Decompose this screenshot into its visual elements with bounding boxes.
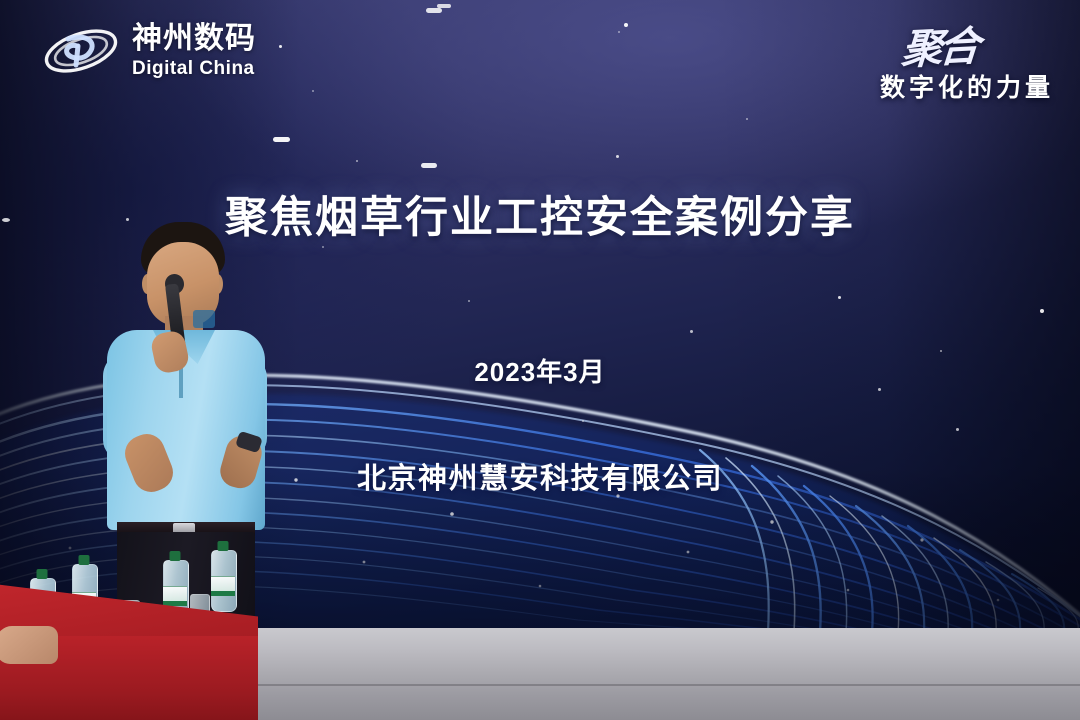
bottle-label-strip — [211, 591, 235, 596]
digital-china-swirl-logo — [42, 20, 120, 82]
brand-name-en: Digital China — [132, 59, 256, 78]
event-brand: 聚合 数字化的力量 — [880, 14, 1054, 104]
bottle-cap — [79, 555, 90, 565]
presenter-chest-logo — [193, 310, 215, 328]
bottle-cap — [37, 569, 48, 579]
digital-china-brand: 神州数码 Digital China — [42, 20, 256, 82]
brand-name-cn: 神州数码 — [132, 24, 256, 54]
water-bottle — [211, 550, 235, 610]
audience-member-hand — [0, 626, 58, 664]
bottle-cap — [170, 551, 181, 561]
bottle-cap — [218, 541, 229, 551]
conference-photo: 聚焦烟草行业工控安全案例分享 2023年3月 北京神州慧安科技有限公司 神州数码… — [0, 0, 1080, 720]
event-calligraphy: 聚合 — [900, 12, 979, 76]
